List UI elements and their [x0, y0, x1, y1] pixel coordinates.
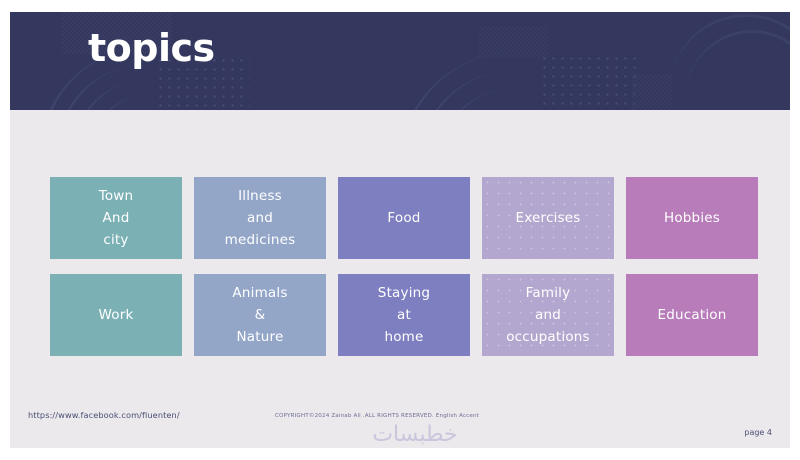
topics-tile-grid: Town And city Illness and medicines Food… [50, 177, 758, 356]
header-arc-decoration-2 [56, 64, 237, 110]
topic-tile[interactable]: Staying at home [338, 274, 470, 356]
topic-tile-label: Staying at home [378, 282, 430, 349]
header-arc-decoration-8 [670, 14, 790, 110]
header-dot-field-right [540, 54, 636, 110]
topic-tile-label: Family and occupations [506, 282, 590, 349]
header-arc-decoration-9 [686, 30, 790, 110]
copyright-notice: COPYRIGHT©2024 Zainab Ali .ALL RIGHTS RE… [275, 413, 479, 419]
topic-tile[interactable]: Education [626, 274, 758, 356]
topic-tile[interactable]: Exercises [482, 177, 614, 259]
topic-tile[interactable]: Hobbies [626, 177, 758, 259]
page-title: topics [88, 29, 215, 67]
header-arc-decoration-7 [434, 88, 597, 110]
topic-tile-label: Illness and medicines [225, 185, 296, 252]
header-checker-pattern-mid [478, 26, 548, 58]
topic-tile[interactable]: Family and occupations [482, 274, 614, 356]
topic-tile-label: Food [387, 207, 420, 229]
header-arc-decoration-3 [72, 80, 221, 110]
topic-tile-label: Hobbies [664, 207, 720, 229]
header-checker-pattern-right [632, 74, 672, 110]
topic-tile-label: Education [657, 304, 726, 326]
page-number: page 4 [744, 428, 772, 437]
facebook-url-link[interactable]: https://www.facebook.com/fluenten/ [28, 410, 180, 420]
topic-tile[interactable]: Illness and medicines [194, 177, 326, 259]
topic-tile-label: Exercises [515, 207, 580, 229]
slide-canvas: topics Town And city Illness and medicin… [0, 0, 800, 460]
topic-tile[interactable]: Animals & Nature [194, 274, 326, 356]
arabic-watermark: خطبسات [340, 422, 490, 447]
slide-header-band: topics [10, 12, 790, 110]
header-arc-decoration-4 [88, 96, 205, 110]
slide-body: Town And city Illness and medicines Food… [10, 110, 790, 448]
topic-tile-label: Work [99, 304, 134, 326]
header-arc-decoration-5 [398, 52, 633, 110]
topic-tile-label: Town And city [99, 185, 134, 252]
topic-tile-label: Animals & Nature [232, 282, 287, 349]
topic-tile[interactable]: Work [50, 274, 182, 356]
topic-tile[interactable]: Town And city [50, 177, 182, 259]
topic-tile[interactable]: Food [338, 177, 470, 259]
header-arc-decoration-6 [416, 70, 615, 110]
